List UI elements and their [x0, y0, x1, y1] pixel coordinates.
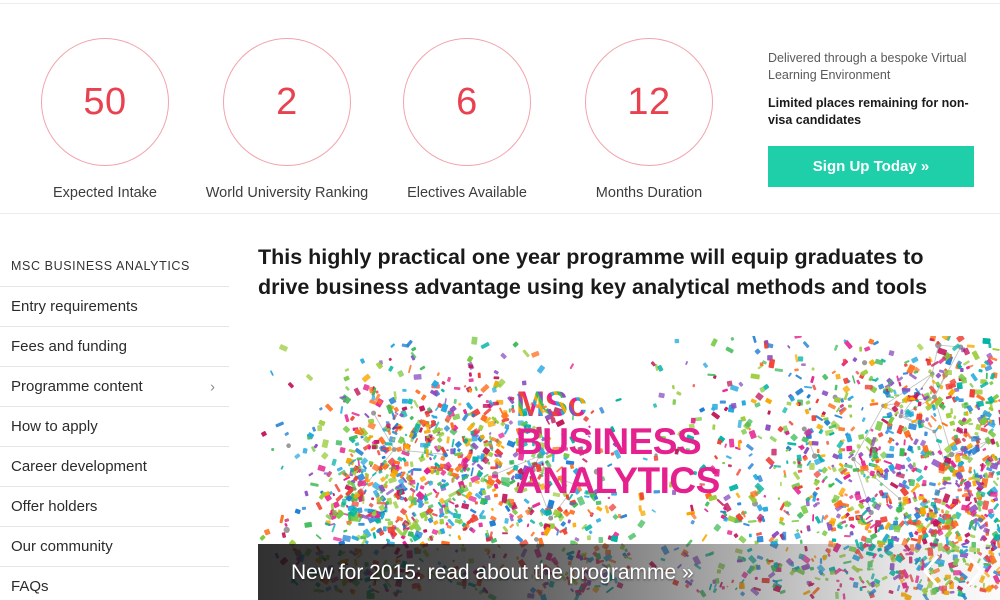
stat-world-university-ranking: 2 World University Ranking — [196, 38, 378, 201]
sidebar-item-career-development[interactable]: Career development — [0, 446, 229, 486]
stat-value: 2 — [276, 83, 298, 121]
hero-caption-bar[interactable]: New for 2015: read about the programme » — [258, 544, 1000, 600]
promo-note: Delivered through a bespoke Virtual Lear… — [768, 50, 976, 83]
top-divider — [0, 3, 1000, 4]
stats-band: 50 Expected Intake 2 World University Ra… — [0, 10, 1000, 205]
stat-expected-intake: 50 Expected Intake — [14, 38, 196, 201]
sidebar-item-label: How to apply — [11, 418, 98, 435]
sidebar-item-label: Fees and funding — [11, 338, 127, 355]
programme-page: 50 Expected Intake 2 World University Ra… — [0, 0, 1000, 600]
stat-value: 50 — [83, 83, 126, 121]
sidebar-item-faqs[interactable]: FAQs — [0, 566, 229, 600]
sidebar-navigation: MSC BUSINESS ANALYTICS Entry requirement… — [0, 246, 229, 600]
sidebar-item-offer-holders[interactable]: Offer holders — [0, 486, 229, 526]
sidebar-item-label: Entry requirements — [11, 298, 138, 315]
sidebar-item-label: Programme content — [11, 378, 143, 395]
sidebar-item-fees-and-funding[interactable]: Fees and funding — [0, 326, 229, 366]
section-divider — [0, 213, 1000, 214]
sidebar-item-label: Our community — [11, 538, 113, 555]
stat-label: Expected Intake — [14, 185, 196, 201]
sidebar-item-our-community[interactable]: Our community — [0, 526, 229, 566]
stat-circle: 2 — [223, 38, 351, 166]
sidebar-item-label: FAQs — [11, 578, 49, 595]
stat-circle: 50 — [41, 38, 169, 166]
stat-label: World University Ranking — [196, 185, 378, 201]
sidebar-item-label: Career development — [11, 458, 147, 475]
carousel-prev-icon[interactable] — [920, 552, 942, 590]
carousel-next-icon[interactable] — [964, 552, 986, 590]
hero-caption-text: New for 2015: read about the programme » — [291, 562, 694, 583]
carousel-controls — [920, 552, 986, 590]
promo-highlight: Limited places remaining for non-visa ca… — [768, 95, 976, 128]
stat-value: 6 — [456, 83, 478, 121]
sidebar-item-how-to-apply[interactable]: How to apply — [0, 406, 229, 446]
sidebar-title: MSC BUSINESS ANALYTICS — [0, 246, 229, 286]
hero-carousel[interactable]: MSc BUSINESS ANALYTICS New for 2015: rea… — [258, 336, 1000, 600]
sidebar-item-programme-content[interactable]: Programme content › — [0, 366, 229, 406]
stat-label: Electives Available — [376, 185, 558, 201]
stat-electives-available: 6 Electives Available — [376, 38, 558, 201]
sign-up-today-button[interactable]: Sign Up Today » — [768, 146, 974, 187]
stat-circle: 6 — [403, 38, 531, 166]
stat-value: 12 — [627, 83, 670, 121]
sidebar-item-label: Offer holders — [11, 498, 97, 515]
sidebar-item-entry-requirements[interactable]: Entry requirements — [0, 286, 229, 326]
stat-circle: 12 — [585, 38, 713, 166]
promo-panel: Delivered through a bespoke Virtual Lear… — [768, 50, 976, 187]
stat-label: Months Duration — [558, 185, 740, 201]
stat-months-duration: 12 Months Duration — [558, 38, 740, 201]
chevron-right-icon: › — [210, 379, 215, 394]
page-headline: This highly practical one year programme… — [258, 242, 968, 302]
